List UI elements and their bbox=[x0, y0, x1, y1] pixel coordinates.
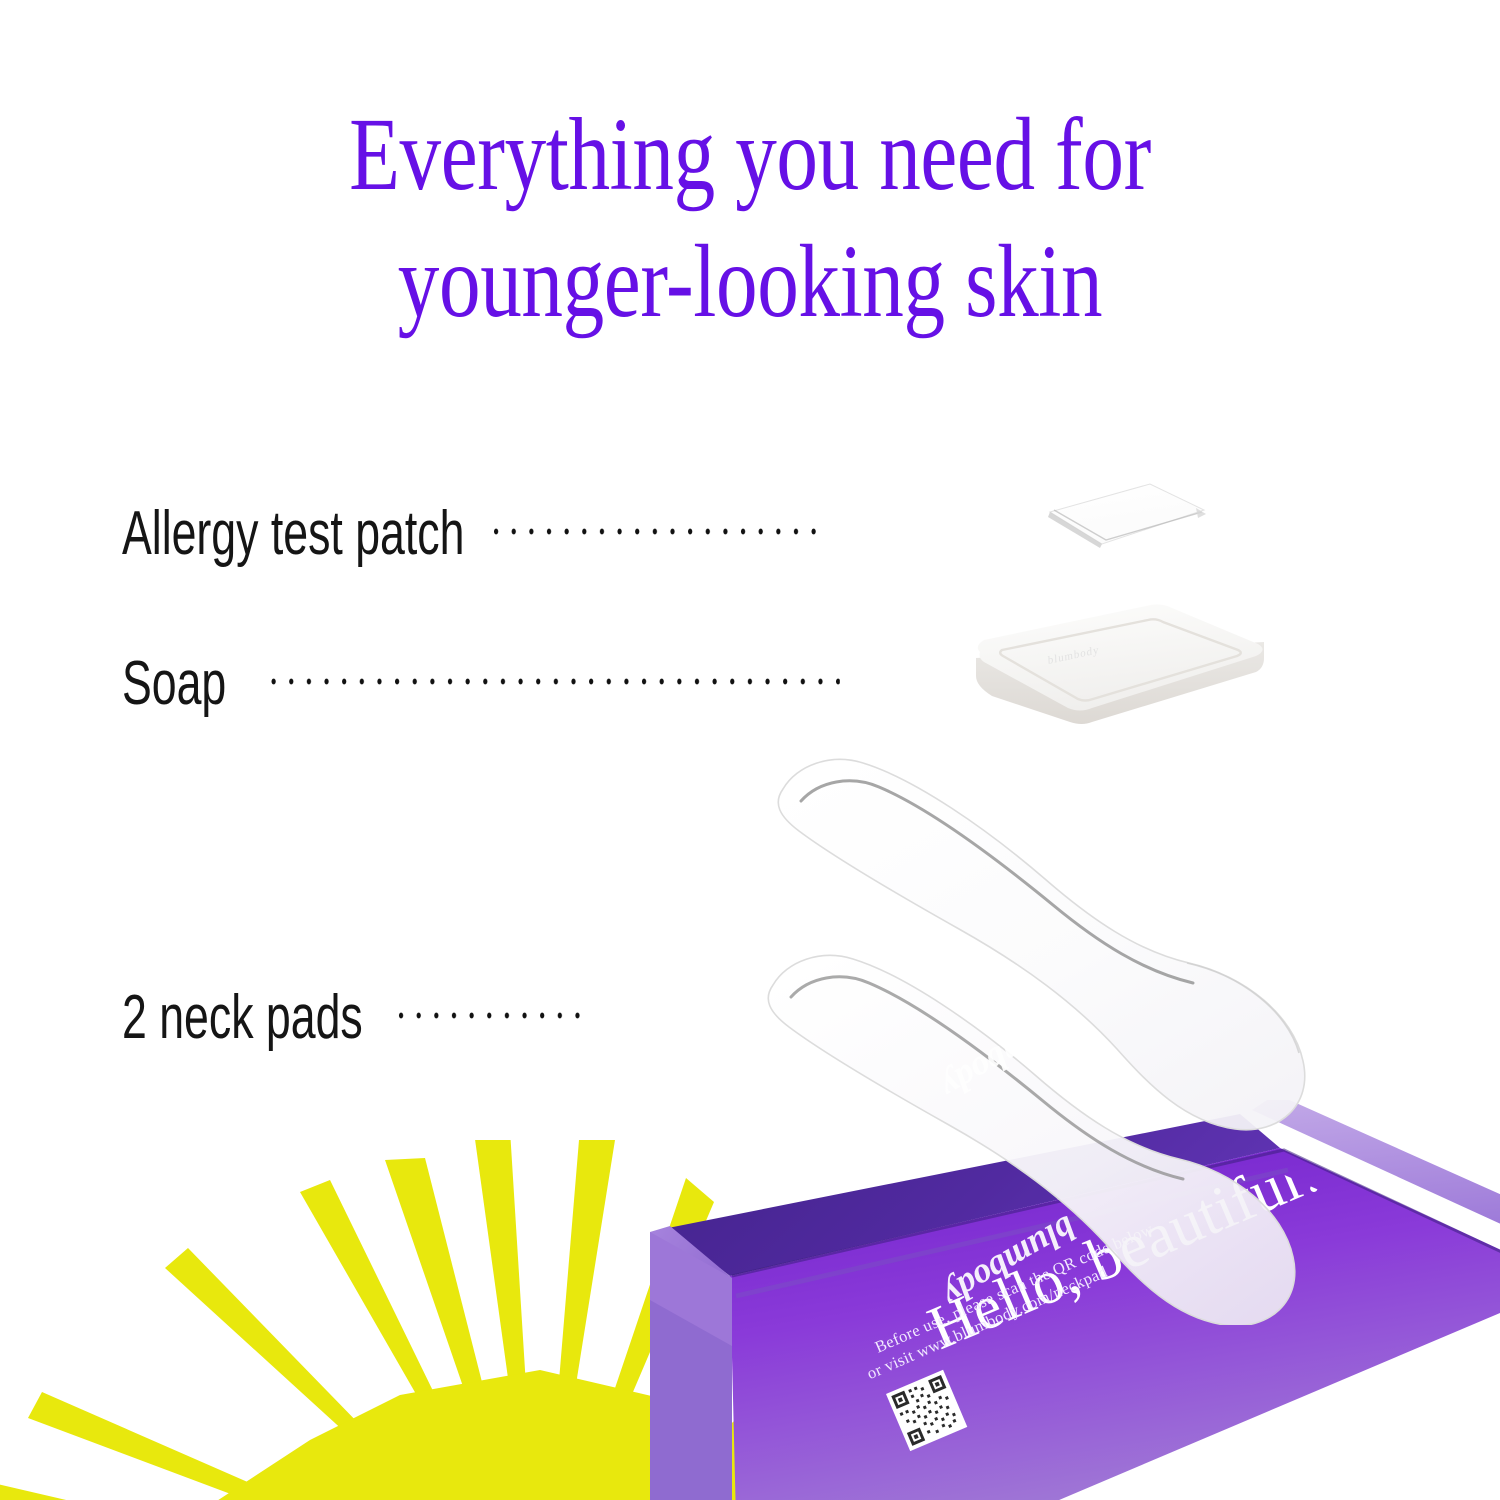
soap-bar-product: blumbody bbox=[950, 600, 1280, 730]
headline-line-2: younger-looking skin bbox=[150, 219, 1350, 346]
neck-pad-upper: blumbody bbox=[778, 759, 1305, 1129]
dot-leader bbox=[271, 677, 840, 686]
page-title: Everything you need for younger-looking … bbox=[150, 92, 1350, 346]
checklist-item-soap: Soap bbox=[122, 648, 840, 719]
allergy-test-patch-product bbox=[1010, 470, 1240, 580]
checklist-item-allergy-test-patch: Allergy test patch bbox=[122, 498, 821, 569]
patch-film-face bbox=[1050, 484, 1204, 544]
dot-leader bbox=[493, 527, 821, 536]
checklist-label: Allergy test patch bbox=[122, 498, 464, 569]
neck-pad-lower-brand: blumbody bbox=[936, 1208, 1083, 1316]
headline-line-1: Everything you need for bbox=[349, 97, 1151, 212]
checklist-item-neck-pads: 2 neck pads bbox=[122, 982, 593, 1053]
checklist-label: Soap bbox=[122, 648, 226, 719]
neck-pads-product: blumbody blumbody bbox=[735, 745, 1500, 1325]
product-infographic: Everything you need for younger-looking … bbox=[0, 0, 1500, 1500]
dot-leader bbox=[399, 1011, 593, 1020]
neck-pad-upper-body bbox=[778, 759, 1305, 1129]
checklist-label: 2 neck pads bbox=[122, 982, 363, 1053]
